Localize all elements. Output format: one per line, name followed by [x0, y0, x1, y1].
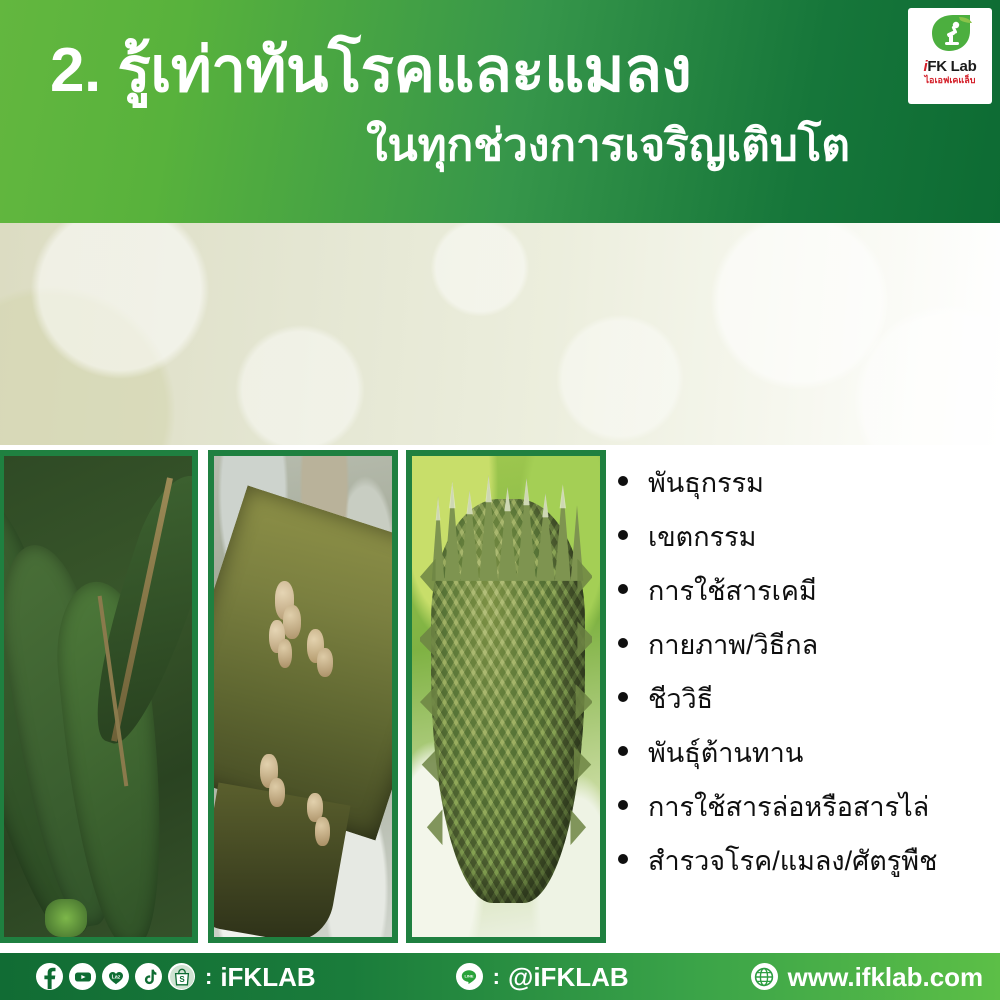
control-methods-list: พันธุกรรม เขตกรรม การใช้สารเคมี กายภาพ/ว…: [618, 470, 1000, 902]
line-handle: @iFKLAB: [508, 964, 629, 990]
list-item: การใช้สารล่อหรือสารไล่: [618, 794, 1000, 848]
gallery-photo-2: [208, 450, 398, 943]
social-handle: iFKLAB: [220, 964, 315, 990]
list-item-label: กายภาพ/วิธีกล: [648, 632, 818, 659]
list-item: พันธุกรรม: [618, 470, 1000, 524]
facebook-icon[interactable]: [36, 963, 63, 990]
svg-text:Laz: Laz: [111, 974, 120, 980]
brand-logo-thai: ไอเอฟเคแล็บ: [925, 76, 976, 85]
brand-logo-text: iFK Lab: [924, 59, 977, 74]
tiktok-icon[interactable]: [135, 963, 162, 990]
page-title: 2. รู้เท่าทันโรคและแมลง: [50, 38, 840, 103]
line-colon: :: [493, 966, 500, 988]
youtube-icon[interactable]: [69, 963, 96, 990]
bullet-dot-icon: [618, 692, 628, 702]
list-item-label: การใช้สารล่อหรือสารไล่: [648, 794, 929, 821]
bullet-dot-icon: [618, 854, 628, 864]
svg-text:LINE: LINE: [465, 973, 474, 978]
footer-website-group[interactable]: www.ifklab.com: [751, 963, 984, 990]
bullet-dot-icon: [618, 800, 628, 810]
page-subtitle: ในทุกช่วงการเจริญเติบโต: [50, 122, 850, 170]
list-item: การใช้สารเคมี: [618, 578, 1000, 632]
bullet-dot-icon: [618, 530, 628, 540]
list-item-label: สำรวจโรค/แมลง/ศัตรูพืช: [648, 848, 937, 875]
header-banner: 2. รู้เท่าทันโรคและแมลง ในทุกช่วงการเจริ…: [0, 0, 1000, 223]
brand-logo-card: iFK Lab ไอเอฟเคแล็บ: [908, 8, 992, 104]
growth-stage-strip: ระยะพัฒนาใบ ระยะพัฒนาดอก ระยะพัฒนาผลอ่อน…: [0, 223, 1000, 445]
shopee-icon[interactable]: S: [168, 963, 195, 990]
lazada-icon[interactable]: Laz: [102, 963, 129, 990]
bullet-dot-icon: [618, 746, 628, 756]
list-item: เขตกรรม: [618, 524, 1000, 578]
footer-social-group: Laz S :: [36, 963, 316, 990]
brand-rest: FK Lab: [927, 58, 976, 75]
list-item-label: ชีววิธี: [648, 686, 713, 713]
poster-root: 2. รู้เท่าทันโรคและแมลง ในทุกช่วงการเจริ…: [0, 0, 1000, 1000]
microscope-leaf-icon: [926, 13, 974, 57]
list-item-label: เขตกรรม: [648, 524, 756, 551]
social-colon: :: [205, 966, 212, 988]
footer-bar: Laz S :: [0, 953, 1000, 1000]
list-item: สำรวจโรค/แมลง/ศัตรูพืช: [618, 848, 1000, 902]
list-item-label: การใช้สารเคมี: [648, 578, 817, 605]
list-item: ชีววิธี: [618, 686, 1000, 740]
list-item-label: พันธุ์ต้านทาน: [648, 740, 803, 767]
bullet-dot-icon: [618, 584, 628, 594]
bullet-dot-icon: [618, 638, 628, 648]
gallery-photo-3: [406, 450, 606, 943]
svg-text:S: S: [179, 975, 185, 984]
social-icons: Laz S: [36, 963, 195, 990]
bullet-dot-icon: [618, 476, 628, 486]
footer-line-group: LINE : @iFKLAB: [456, 963, 629, 990]
gallery-photo-1: [0, 450, 198, 943]
list-item: พันธุ์ต้านทาน: [618, 740, 1000, 794]
globe-icon[interactable]: [751, 963, 778, 990]
list-item: กายภาพ/วิธีกล: [618, 632, 1000, 686]
website-url[interactable]: www.ifklab.com: [788, 964, 984, 990]
list-item-label: พันธุกรรม: [648, 470, 764, 497]
line-icon[interactable]: LINE: [456, 963, 483, 990]
